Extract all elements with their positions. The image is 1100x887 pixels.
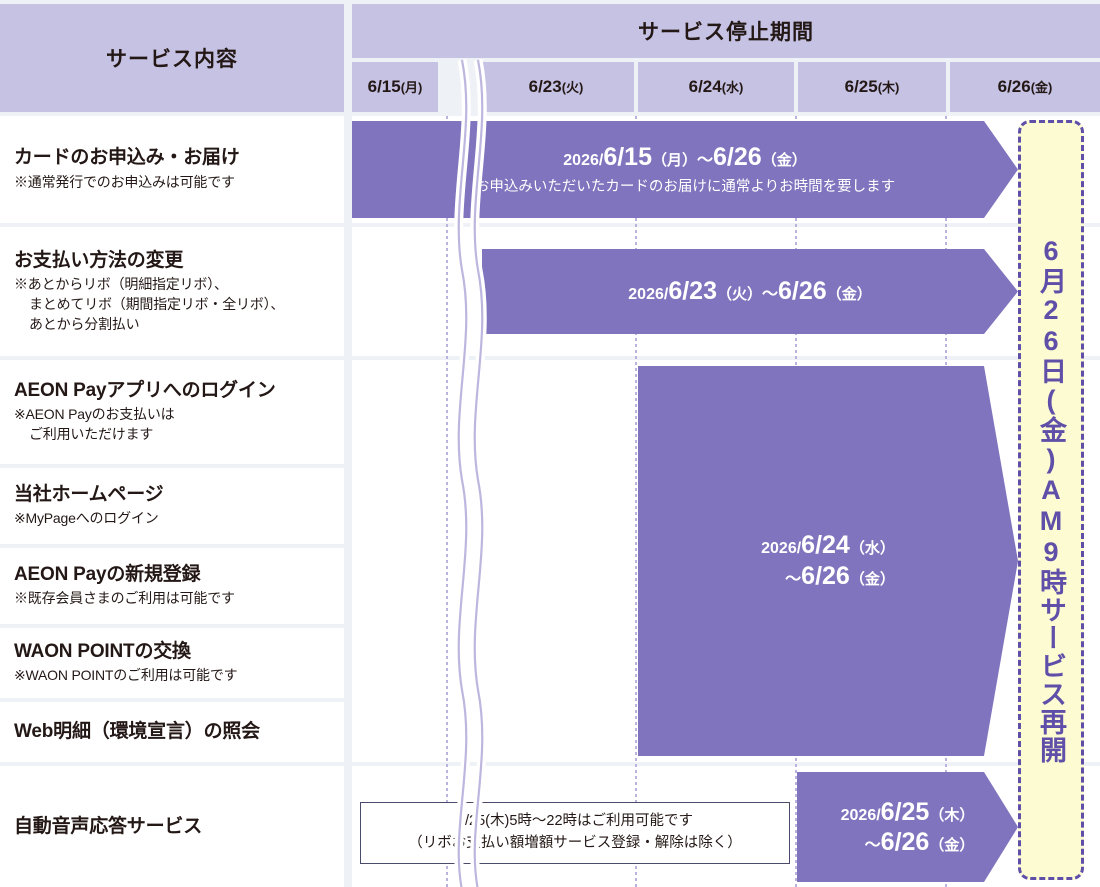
header-date-0624: 6/24 <box>689 77 722 96</box>
bar-end-dow: （金） <box>850 571 895 588</box>
bar-end-dow: （金） <box>762 152 807 169</box>
bar-start-dow: （月） <box>652 152 697 169</box>
bar-start: 6/15 <box>603 143 652 171</box>
header-date-0615: 6/15 <box>368 77 401 96</box>
bar-tilde: ～ <box>762 286 778 303</box>
bar-end: 6/26 <box>713 143 762 171</box>
service-note: ※通常発行でのお申込みは可能です <box>14 174 235 190</box>
service-title: AEON Payの新規登録 <box>14 563 344 586</box>
note-line-1: 6/25(木)5時～22時はご利用可能です <box>457 811 693 833</box>
bar-end: 6/26 <box>801 562 850 590</box>
header-service-column-label: サービス内容 <box>106 43 238 73</box>
header-period-title: サービス停止期間 <box>352 4 1100 58</box>
bar-start-dow: （水） <box>850 540 895 557</box>
service-row-aeonpay-registration: AEON Payの新規登録 ※既存会員さまのご利用は可能です <box>0 548 344 624</box>
header-date-0623: 6/23 <box>529 77 562 96</box>
service-title: 自動音声応答サービス <box>14 815 344 838</box>
bar-payment-method-change: 2026/6/23（火）～6/26（金） <box>482 249 1018 334</box>
bar-tilde: ～ <box>697 152 713 169</box>
timeline-area: 2026/6/15（月）～6/26（金） お申込みいただいたカードのお届けに通常… <box>352 116 1100 887</box>
service-note-line-3: あとから分割払い <box>14 315 344 335</box>
service-title: カードのお申込み・お届け <box>14 146 344 169</box>
bar-year: 2026/ <box>841 807 881 824</box>
bar-multi-service-block: 2026/6/24（水） ～6/26（金） <box>638 366 1018 756</box>
service-row-company-homepage: 当社ホームページ ※MyPageへのログイン <box>0 468 344 544</box>
gridline-2 <box>635 116 637 887</box>
service-note: ※あとからリボ（明細指定リボ）、 <box>14 276 228 292</box>
header-date-cell-0625: 6/25(木) <box>798 62 946 112</box>
gridline-1 <box>446 116 448 887</box>
service-note: ※MyPageへのログイン <box>14 510 159 526</box>
bar-card-application: 2026/6/15（月）～6/26（金） お申込みいただいたカードのお届けに通常… <box>352 121 1018 218</box>
service-note: ※WAON POINTのご利用は可能です <box>14 667 237 683</box>
bar-start-dow: （火） <box>717 286 762 303</box>
bar-tilde: ～ <box>865 837 881 854</box>
bar-end-dow: （金） <box>929 837 974 854</box>
bar-end-dow: （金） <box>827 286 872 303</box>
voice-response-availability-note: 6/25(木)5時～22時はご利用可能です （リボお支払い額増額サービス登録・解… <box>360 802 790 864</box>
bar-tilde: ～ <box>785 571 801 588</box>
bar-start-dow: （木） <box>929 807 974 824</box>
service-row-automated-voice-response: 自動音声応答サービス <box>0 766 344 887</box>
service-note-line-2: まとめてリボ（期間指定リボ・全リボ）、 <box>14 295 344 315</box>
service-note-line-2: ご利用いただけます <box>14 425 344 445</box>
header-date-cell-0626: 6/26(金) <box>950 62 1100 112</box>
service-row-aeonpay-app-login: AEON Payアプリへのログイン ※AEON Payのお支払いは ご利用いただ… <box>0 360 344 464</box>
bar-automated-voice-response: 2026/6/25（木） ～6/26（金） <box>797 772 1018 882</box>
header-date-cell-0624: 6/24(水) <box>638 62 794 112</box>
bar-end: 6/26 <box>778 277 827 305</box>
service-title: WAON POINTの交換 <box>14 640 344 663</box>
service-resume-panel: 6月26日(金)AM9時サービス再開 <box>1018 120 1084 880</box>
service-note: ※AEON Payのお支払いは <box>14 406 174 422</box>
header-service-column: サービス内容 <box>0 4 344 112</box>
service-title: Web明細（環境宣言）の照会 <box>14 720 344 743</box>
header-period-title-label: サービス停止期間 <box>638 16 814 46</box>
bar-start: 6/25 <box>881 798 930 826</box>
header-date-cell-0615: 6/15(月) <box>352 62 438 112</box>
bar-year: 2026/ <box>628 286 668 303</box>
header-dow-0625: (木) <box>878 80 900 95</box>
service-resume-label: 6月26日(金)AM9時サービス再開 <box>1037 236 1065 764</box>
bar-start: 6/24 <box>801 531 850 559</box>
service-title: お支払い方法の変更 <box>14 249 344 272</box>
service-row-card-application: カードのお申込み・お届け ※通常発行でのお申込みは可能です <box>0 116 344 223</box>
service-row-payment-method-change: お支払い方法の変更 ※あとからリボ（明細指定リボ）、 まとめてリボ（期間指定リボ… <box>0 227 344 356</box>
header-date-0626: 6/26 <box>998 77 1031 96</box>
service-row-waon-point-exchange: WAON POINTの交換 ※WAON POINTのご利用は可能です <box>0 628 344 698</box>
bar-end: 6/26 <box>881 828 930 856</box>
header-dow-0626: (金) <box>1031 80 1053 95</box>
bar-year: 2026/ <box>563 152 603 169</box>
header-dow-0615: (月) <box>401 80 423 95</box>
bar-start: 6/23 <box>668 277 717 305</box>
service-title: AEON Payアプリへのログイン <box>14 379 344 402</box>
header-dow-0623: (火) <box>562 80 584 95</box>
service-row-web-statement: Web明細（環境宣言）の照会 <box>0 702 344 762</box>
service-suspension-schedule-table: サービス内容 サービス停止期間 6/15(月) 6/23(火) 6/24(水) … <box>0 0 1100 887</box>
header-date-0625: 6/25 <box>845 77 878 96</box>
service-title: 当社ホームページ <box>14 483 344 506</box>
header-date-cell-0623: 6/23(火) <box>478 62 634 112</box>
header-dow-0624: (水) <box>722 80 744 95</box>
bar-year: 2026/ <box>761 540 801 557</box>
service-note: ※既存会員さまのご利用は可能です <box>14 590 235 606</box>
bar-subtext: お申込みいただいたカードのお届けに通常よりお時間を要します <box>475 175 895 196</box>
note-line-2: （リボお支払い額増額サービス登録・解除は除く） <box>408 833 742 855</box>
